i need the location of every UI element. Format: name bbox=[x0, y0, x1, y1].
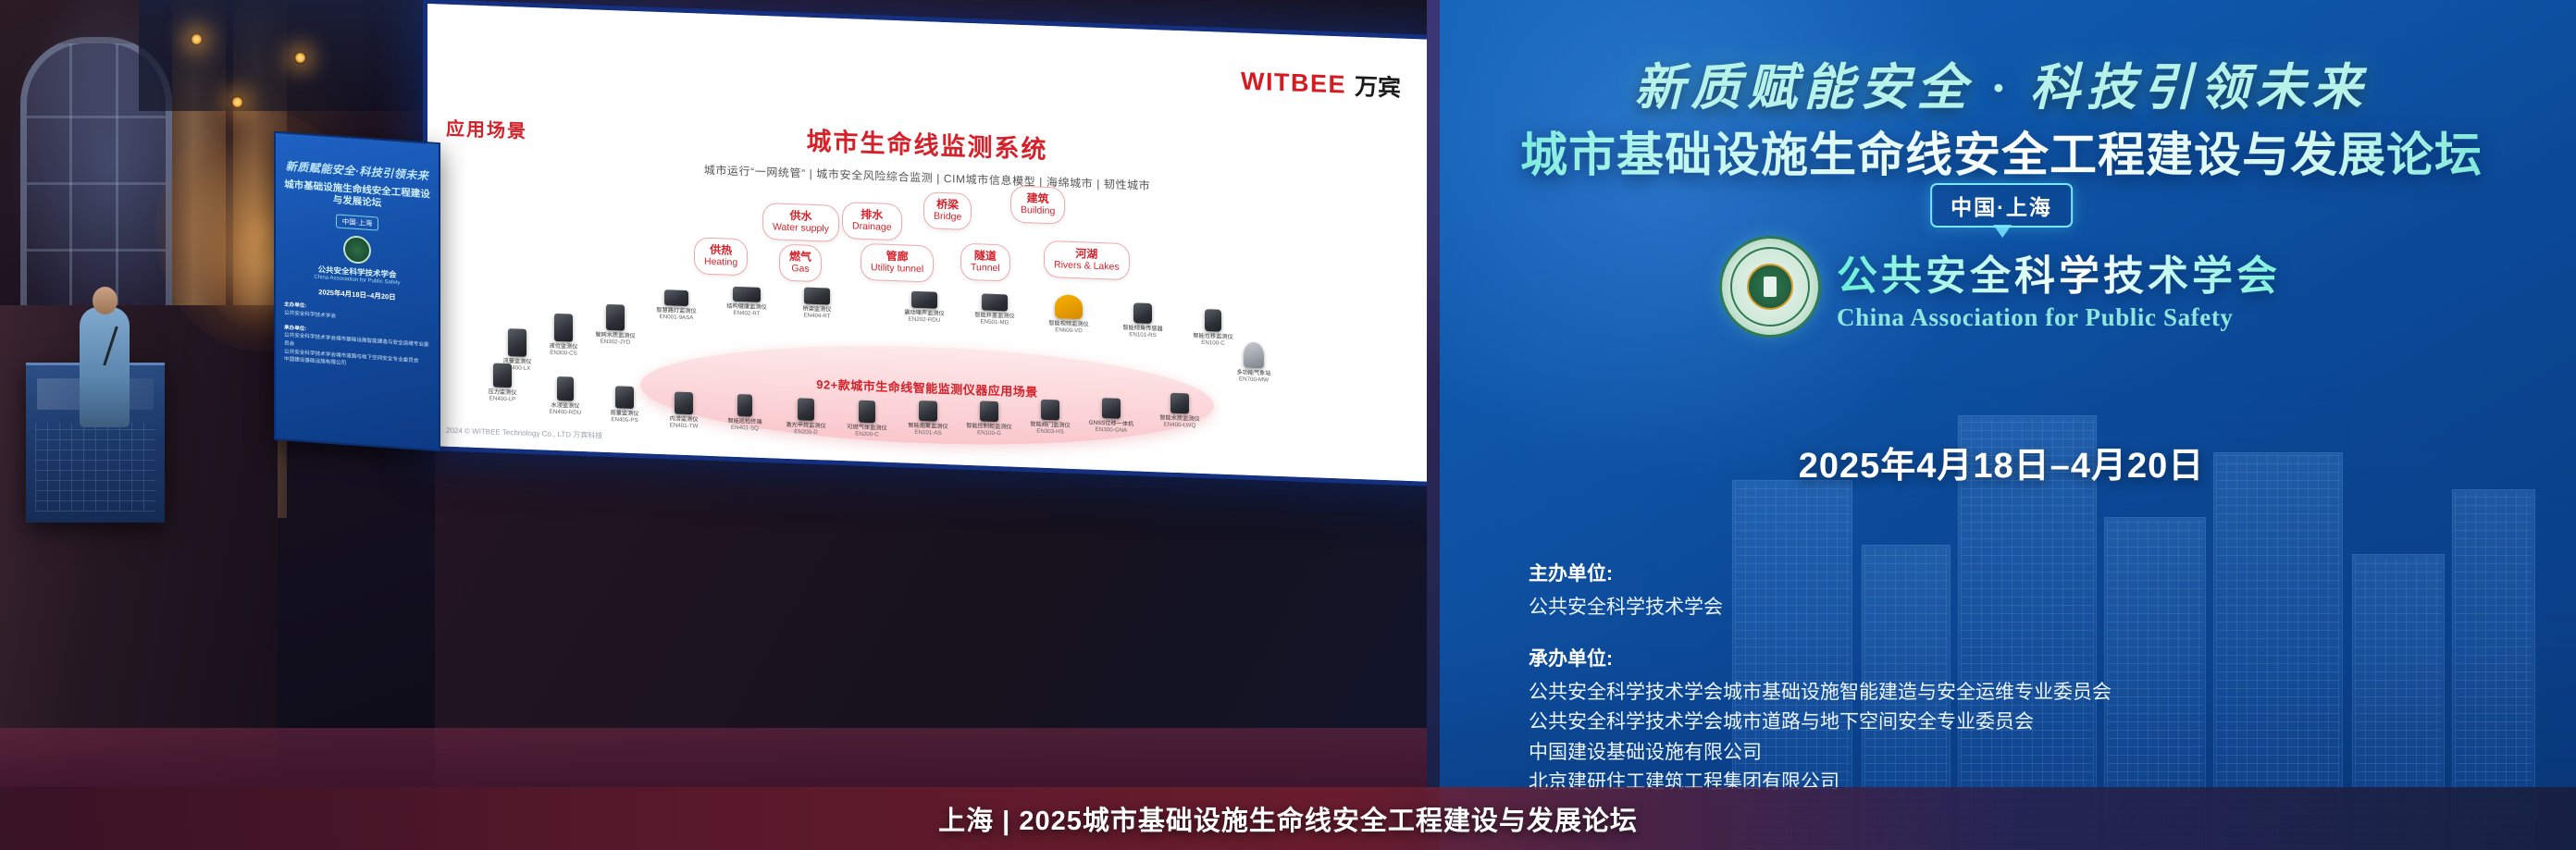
scenario-bubble: 河湖 Rivers & Lakes bbox=[1044, 240, 1130, 280]
device-item: 雨量监测仪 EN405-PS bbox=[590, 385, 659, 425]
association-name-en: China Association for Public Safety bbox=[1837, 303, 2281, 332]
podium-graphic bbox=[35, 423, 155, 511]
scenario-bubble: 建筑 Building bbox=[1010, 186, 1065, 225]
device-item: 智能倾角传感器 EN101-RS bbox=[1108, 302, 1177, 339]
device-item: 智能水质监测仪 EN400-LWQ bbox=[1146, 392, 1214, 430]
device-item: 压力监测仪 EN400-LP bbox=[468, 363, 537, 404]
location-badge: 中国·上海 bbox=[1930, 183, 2073, 228]
witbee-wordmark: WITBEE bbox=[1241, 67, 1346, 99]
stage-light bbox=[231, 96, 243, 108]
scenario-bubble: 燃气 Gas bbox=[779, 244, 822, 282]
device-item: 智能烟雾监测仪 EN101-AS bbox=[894, 400, 962, 437]
device-item: 智慧路灯监测仪 EN001-9ASA bbox=[642, 289, 711, 322]
stage-light bbox=[294, 52, 306, 64]
slide-footer-copyright: 2024 © WITBEE Technology Co., LTD 万宾科技 bbox=[446, 425, 602, 441]
device-item: 智能阀门监测仪 EN303-HS bbox=[1016, 399, 1084, 437]
organizer-list: 主办单位: 公共安全科学技术学会 承办单位: 公共安全科学技术学会城市基础设施智… bbox=[1529, 559, 2112, 798]
device-item: 智能巡检终端 EN401-SQ bbox=[711, 393, 779, 433]
organizer-name: 公共安全科学技术学会城市基础设施智能建造与安全运维专业委员会 bbox=[1529, 678, 2112, 708]
slide-surface: WITBEE 万宾 应用场景 城市生命线监测系统 城市运行“一网统管” | 城市… bbox=[427, 4, 1427, 482]
device-item: 结构健康监测仪 EN402-RT bbox=[712, 286, 781, 318]
caps-emblem-icon bbox=[1722, 239, 1818, 335]
device-item: 桥梁监测仪 EN404-RT bbox=[783, 287, 851, 321]
stage-floor bbox=[0, 728, 1427, 787]
device-item: 震动噪声监测仪 EN202-RDU bbox=[890, 290, 959, 325]
scenario-bubble: 供水 Water supply bbox=[762, 203, 839, 241]
presentation-screen: WITBEE 万宾 应用场景 城市生命线监测系统 城市运行“一网统管” | 城市… bbox=[427, 4, 1427, 448]
backdrop-main-title: 城市基础设施生命线安全工程建设与发展论坛 bbox=[1427, 117, 2576, 185]
device-item: 激光甲烷监测仪 EN200-D bbox=[772, 397, 840, 437]
host-label: 主办单位: bbox=[1529, 559, 2112, 586]
conference-photo: WITBEE 万宾 应用场景 城市生命线监测系统 城市运行“一网统管” | 城市… bbox=[0, 0, 2576, 850]
standee-emblem-icon bbox=[343, 235, 371, 265]
organizer-name: 中国建设基础设施有限公司 bbox=[1529, 738, 2112, 769]
conference-backdrop: 新质赋能安全 · 科技引领未来 城市基础设施生命线安全工程建设与发展论坛 中国·… bbox=[1427, 0, 2576, 850]
standee-host-block: 主办单位: 公共安全科学技术学会 bbox=[284, 302, 430, 327]
scenario-bubble: 隧道 Tunnel bbox=[960, 243, 1010, 281]
association-name-cn: 公共安全科学技术学会 bbox=[1837, 242, 2281, 302]
device-item: 水浸监测仪 EN400-RDU bbox=[531, 376, 600, 417]
organizer-label: 承办单位: bbox=[1529, 644, 2112, 671]
caption-bar: 上海 | 2025城市基础设施生命线安全工程建设与发展论坛 bbox=[0, 787, 2576, 850]
speaker-person bbox=[80, 307, 130, 427]
device-item: 内涝监测仪 EN401-TW bbox=[650, 391, 718, 431]
lighting-truss bbox=[139, 0, 444, 111]
backdrop-calligraphy-slogan: 新质赋能安全 · 科技引领未来 bbox=[1427, 46, 2576, 119]
caption-text: 上海 | 2025城市基础设施生命线安全工程建设与发展论坛 bbox=[938, 799, 1638, 838]
device-item: 智能视频监测仪 EN600-VD bbox=[1034, 293, 1103, 335]
scenario-bubble: 管廊 Utility tunnel bbox=[861, 243, 934, 282]
witbee-chinese-name: 万宾 bbox=[1355, 68, 1401, 104]
scenario-bubble: 桥梁 Bridge bbox=[923, 191, 972, 229]
stage-light bbox=[191, 33, 203, 45]
device-item: GNSS位移一体机 EN300-GNA bbox=[1077, 397, 1146, 435]
scenario-bubble: 排水 Drainage bbox=[842, 202, 902, 240]
scenario-bubble: 供热 Heating bbox=[694, 237, 748, 276]
device-item: 智能控制柜监测仪 EN100-G bbox=[955, 400, 1023, 437]
standee-location-badge: 中国·上海 bbox=[336, 215, 378, 231]
device-item: 可燃气体监测仪 EN200-C bbox=[833, 400, 901, 439]
standee-main-title: 城市基础设施生命线安全工程建设与发展论坛 bbox=[276, 179, 439, 215]
event-date: 2025年4月18日–4月20日 bbox=[1427, 437, 2576, 487]
organizer-name: 公共安全科学技术学会城市道路与地下空间安全专业委员会 bbox=[1529, 708, 2112, 738]
event-standee-banner: 新质赋能安全·科技引领未来 城市基础设施生命线安全工程建设与发展论坛 中国·上海… bbox=[274, 131, 440, 452]
witbee-logo: WITBEE 万宾 bbox=[1241, 64, 1401, 103]
device-item: 智能井盖监测仪 EN501-MG bbox=[960, 293, 1029, 327]
association-lockup: 公共安全科学技术学会 China Association for Public … bbox=[1722, 239, 2281, 335]
host-name: 公共安全科学技术学会 bbox=[1529, 593, 2112, 623]
standee-organizer-block: 承办单位: 公共安全科学技术学会城市基础设施智能建造与安全运维专业委员会 公共安… bbox=[284, 324, 430, 374]
speaker-head bbox=[93, 287, 118, 314]
device-item: 多功能气象站 EN700-MW bbox=[1220, 341, 1288, 385]
